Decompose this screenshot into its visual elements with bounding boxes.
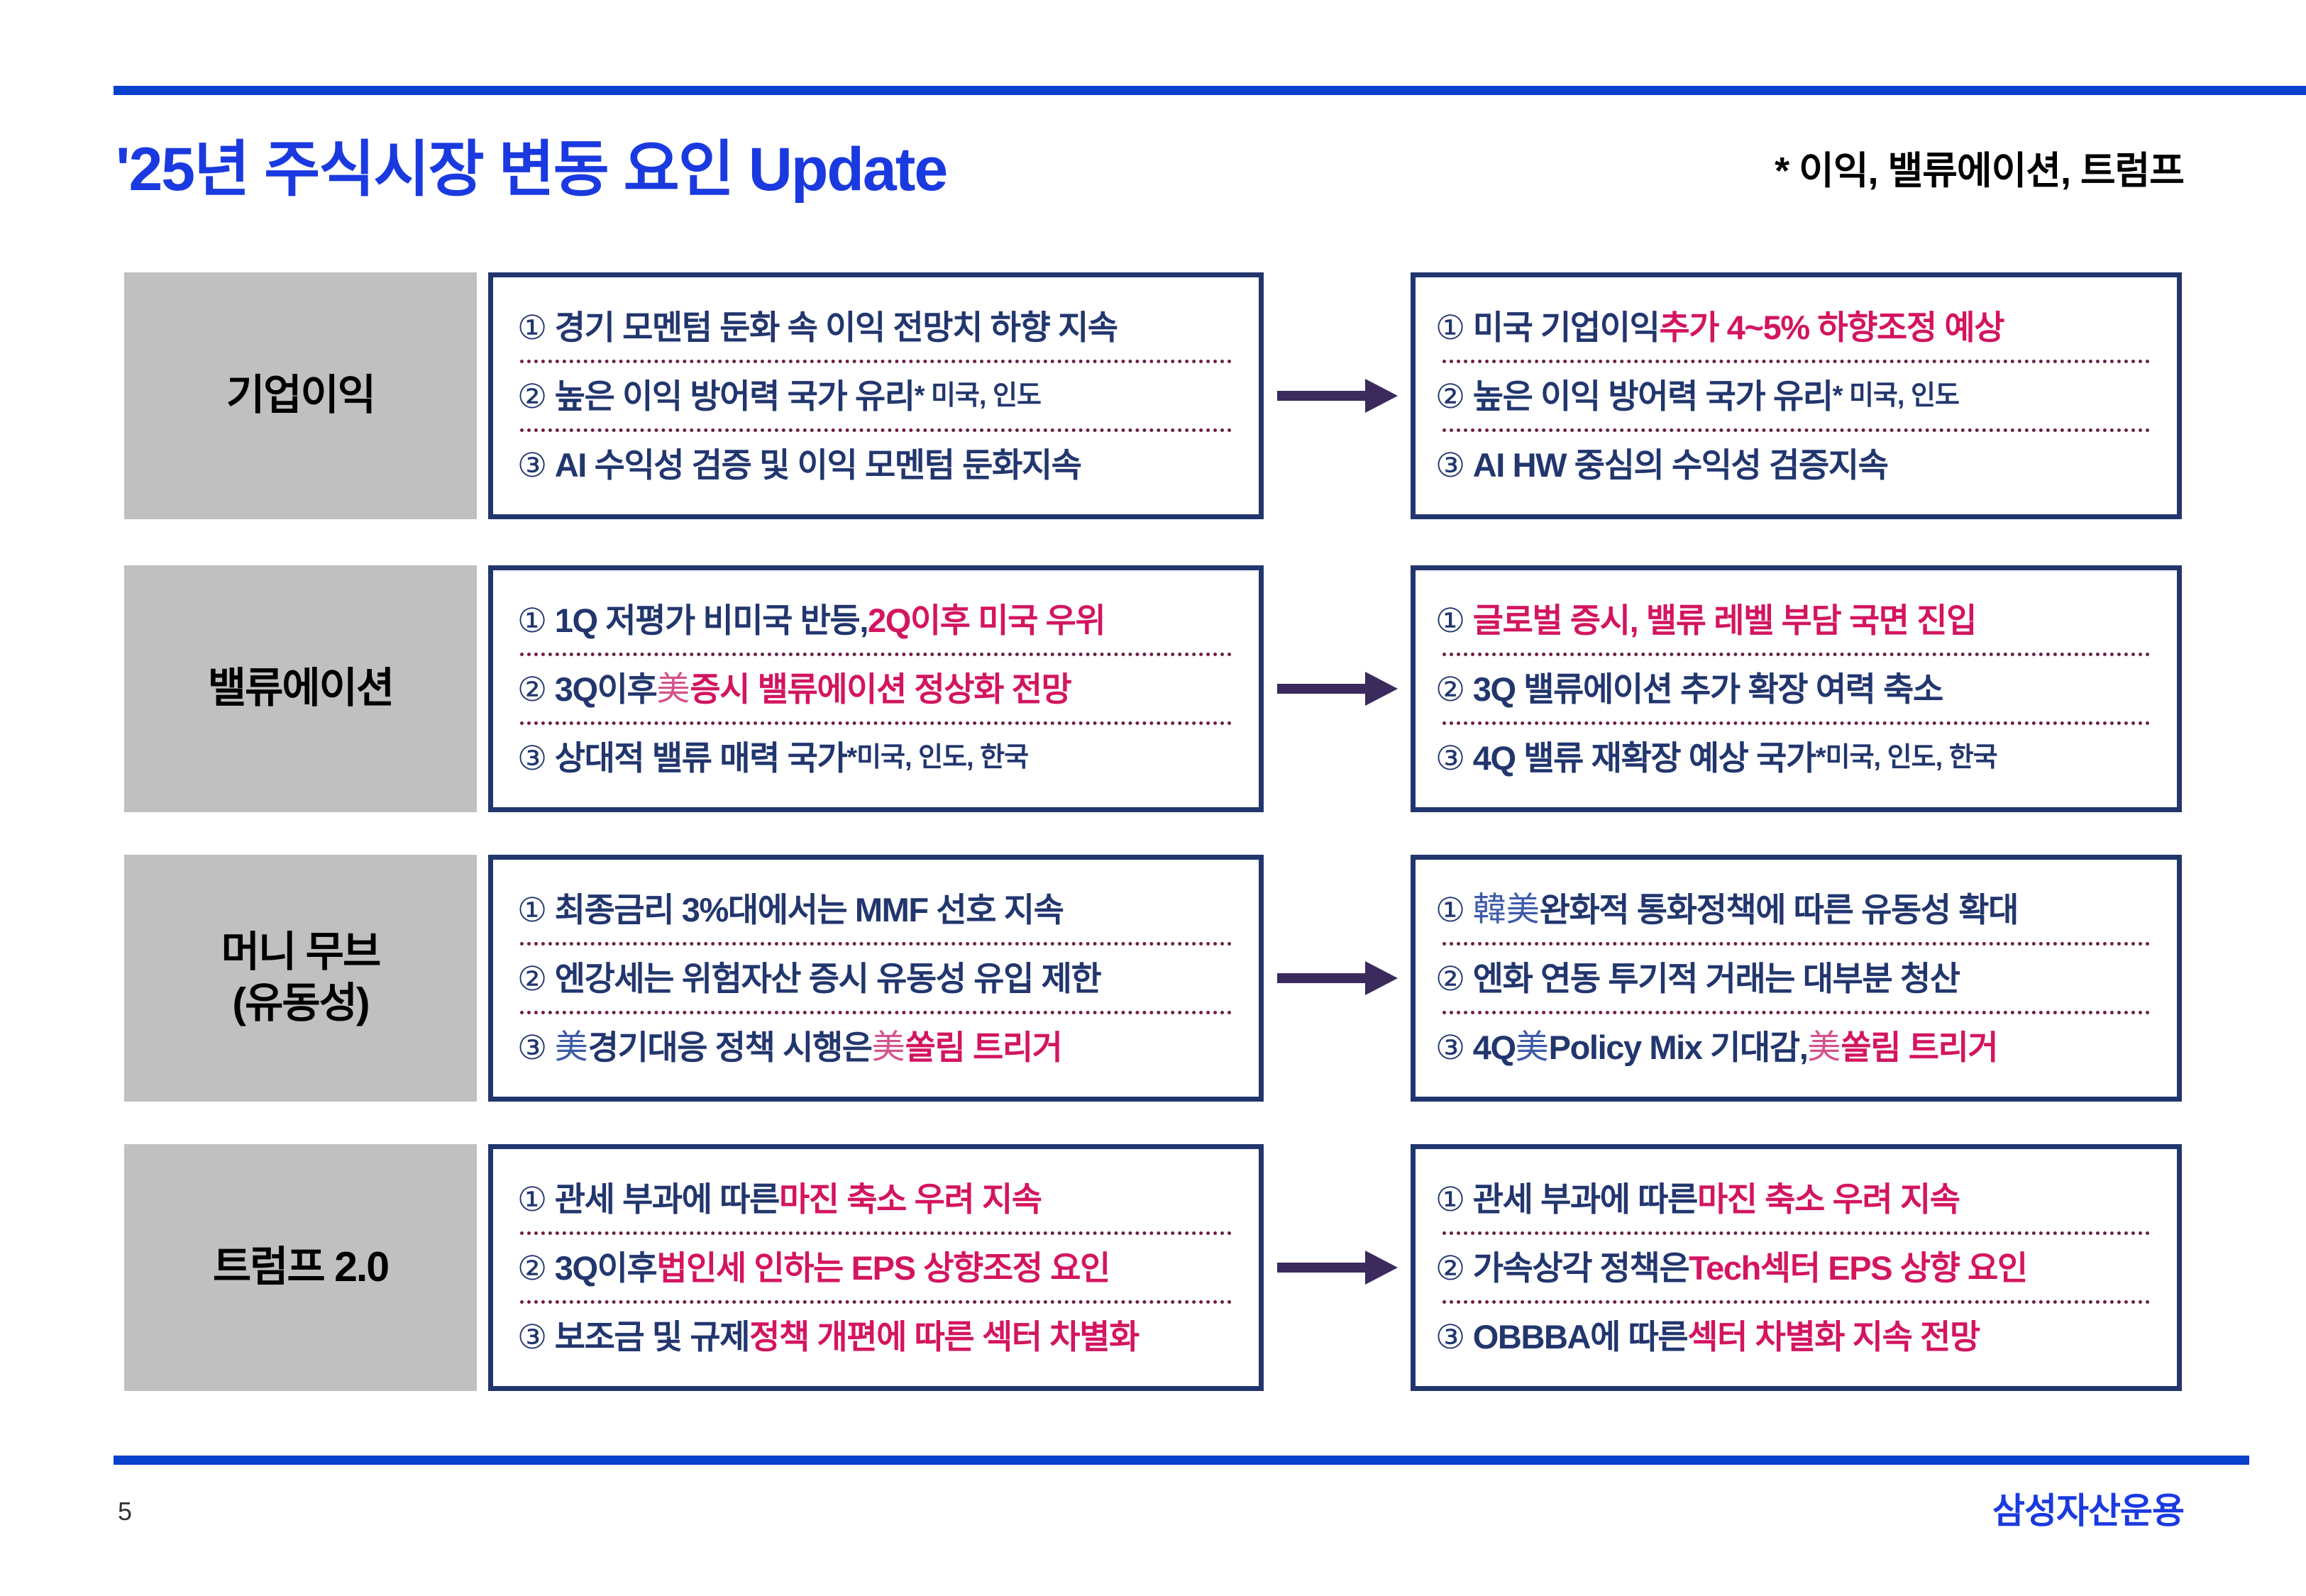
item-text-run: 법인세 인하는 EPS 상향조정 요인 [656,1251,1110,1285]
factor-item: ②높은 이익 방어력 국가 유리 * 미국, 인도 [1416,363,2177,428]
panel-updated-view: ①글로벌 증시, 밸류 레벨 부담 국면 진입②3Q 밸류에이션 추가 확장 여… [1411,565,2182,812]
arrow-head [1365,961,1398,995]
category-label: 기업이익 [226,370,375,421]
category-label: 머니 무브(유동성) [221,927,380,1029]
item-text-run: 3Q이후 [555,672,657,706]
item-text-run: 경기 모멘텀 둔화 속 이익 전망치 하향 지속 [555,311,1118,344]
item-text-run: 美 [555,1031,588,1064]
item-text-run: 엔화 연동 투기적 거래는 대부분 청산 [1473,962,1960,995]
item-number: ③ [517,741,546,775]
item-text-run: 섹터 차별화 지속 전망 [1687,1320,1980,1353]
item-text-run: 美 [1516,1031,1549,1064]
item-text-run: 보조금 및 규제 [555,1320,749,1353]
item-number: ② [1435,962,1464,995]
item-text-run: 엔강세는 위험자산 증시 유동성 유입 제한 [555,962,1101,995]
page-subtitle: * 이익, 밸류에이션, 트럼프 [1775,139,2184,195]
item-number: ① [517,1182,546,1216]
factor-item: ③상대적 밸류 매력 국가 *미국, 인도, 한국 [493,725,1259,790]
item-text-run: 3Q이후 [555,1251,657,1285]
arrow-shaft [1277,973,1371,983]
item-number: ① [1435,893,1464,926]
item-text-run: 쏠림 트리거 [1841,1031,1997,1064]
item-number: ② [1435,379,1464,413]
item-number: ③ [1435,1320,1464,1353]
footer-rule [114,1456,2249,1465]
item-number: ③ [1435,448,1464,482]
item-text-run: 4Q 밸류 재확장 예상 국가 [1473,741,1816,775]
item-text-run: 마진 축소 우려 지속 [779,1182,1042,1216]
factor-row: 머니 무브(유동성)①최종금리 3%대에서는 MMF 선호 지속②엔강세는 위험… [0,855,2306,1102]
page-number: 5 [118,1497,132,1526]
item-text-run: 美 [872,1031,905,1064]
arrow-shaft [1277,684,1371,694]
category-cell: 밸류에이션 [124,565,477,812]
panel-updated-view: ①韓美 완화적 통화정책에 따른 유동성 확대②엔화 연동 투기적 거래는 대부… [1411,855,2182,1102]
item-text-run: 가속상각 정책은 [1473,1251,1689,1285]
item-text-run: 관세 부과에 따른 [1473,1182,1697,1216]
category-cell: 트럼프 2.0 [124,1144,477,1391]
item-text-run: 4Q [1473,1031,1516,1064]
item-text-run: Tech섹터 EPS 상향 요인 [1689,1251,2026,1285]
factor-item: ③4Q 밸류 재확장 예상 국가 *미국, 인도, 한국 [1416,725,2177,790]
item-text-run: 완화적 통화정책에 따른 유동성 확대 [1540,893,2018,926]
item-text-run: 쏠림 트리거 [905,1031,1062,1064]
category-label: 트럼프 2.0 [213,1242,388,1293]
factor-item: ①경기 모멘텀 둔화 속 이익 전망치 하향 지속 [493,294,1259,360]
item-text-run: 정책 개편에 따른 섹터 차별화 [749,1320,1139,1353]
item-text-run: 높은 이익 방어력 국가 유리 [1473,379,1833,413]
category-cell: 머니 무브(유동성) [124,855,477,1102]
item-text-run: 3Q 밸류에이션 추가 확장 여력 축소 [1473,672,1943,706]
factor-item: ②3Q이후 美 증시 밸류에이션 정상화 전망 [493,656,1259,721]
item-number: ① [517,893,546,926]
factor-item: ①韓美 완화적 통화정책에 따른 유동성 확대 [1416,877,2177,942]
company-logo: 삼성자산운용 [1992,1483,2184,1534]
item-text-run: * 미국, 인도 [1833,382,1959,409]
category-cell: 기업이익 [124,272,477,519]
item-text-run: 최종금리 3%대에서는 MMF 선호 지속 [555,893,1064,926]
panel-updated-view: ①관세 부과에 따른 마진 축소 우려 지속②가속상각 정책은 Tech섹터 E… [1411,1144,2182,1391]
item-number: ③ [517,448,546,482]
item-number: ③ [1435,1031,1464,1064]
arrow-head [1365,1251,1398,1285]
item-text-run: 상대적 밸류 매력 국가 [555,741,847,775]
item-text-run: 美 [1807,1031,1841,1064]
factor-row: 트럼프 2.0①관세 부과에 따른 마진 축소 우려 지속②3Q이후 법인세 인… [0,1144,2306,1391]
item-text-run: Policy Mix 기대감, [1549,1031,1808,1064]
item-text-run: 2Q이후 미국 우위 [868,604,1105,637]
item-number: ③ [517,1320,546,1353]
arrow-head [1365,672,1398,706]
factor-item: ②엔강세는 위험자산 증시 유동성 유입 제한 [493,946,1259,1011]
factor-item: ③美 경기대응 정책 시행은 美 쏠림 트리거 [493,1014,1259,1080]
factor-item: ①관세 부과에 따른 마진 축소 우려 지속 [1416,1166,2177,1231]
factor-row: 밸류에이션①1Q 저평가 비미국 반등, 2Q이후 미국 우위②3Q이후 美 증… [0,565,2306,812]
panel-previous-view: ①1Q 저평가 비미국 반등, 2Q이후 미국 우위②3Q이후 美 증시 밸류에… [488,565,1264,812]
item-number: ② [517,379,546,413]
item-number: ① [1435,604,1464,637]
item-text-run: AI 수익성 검증 및 이익 모멘텀 둔화지속 [555,448,1081,482]
slide: '25년 주식시장 변동 요인 Update * 이익, 밸류에이션, 트럼프 … [0,0,2306,1596]
item-text-run: 경기대응 정책 시행은 [588,1031,872,1064]
header-rule [114,86,2306,95]
factor-item: ③AI HW 중심의 수익성 검증지속 [1416,432,2177,497]
item-text-run: * 미국, 인도 [915,382,1041,409]
arrow-right-icon [1277,272,1398,519]
item-text-run: 추가 4~5% 하향조정 예상 [1659,311,2004,344]
factor-item: ③보조금 및 규제정책 개편에 따른 섹터 차별화 [493,1304,1259,1369]
item-text-run: 1Q 저평가 비미국 반등, [555,604,868,637]
item-number: ① [1435,311,1464,344]
item-text-run: 미국 기업이익 [1473,311,1660,344]
panel-updated-view: ①미국 기업이익 추가 4~5% 하향조정 예상②높은 이익 방어력 국가 유리… [1411,272,2182,519]
panel-previous-view: ①경기 모멘텀 둔화 속 이익 전망치 하향 지속②높은 이익 방어력 국가 유… [488,272,1264,519]
factor-item: ①1Q 저평가 비미국 반등, 2Q이후 미국 우위 [493,587,1259,653]
factor-item: ②높은 이익 방어력 국가 유리 * 미국, 인도 [493,363,1259,428]
item-number: ① [517,311,546,344]
item-text-run: 마진 축소 우려 지속 [1697,1182,1960,1216]
item-text-run: OBBBA에 따른 [1473,1320,1688,1353]
factor-row: 기업이익①경기 모멘텀 둔화 속 이익 전망치 하향 지속②높은 이익 방어력 … [0,272,2306,519]
item-text-run: *미국, 인도, 한국 [1816,744,1997,771]
factor-item: ③AI 수익성 검증 및 이익 모멘텀 둔화지속 [493,432,1259,497]
item-text-run: 관세 부과에 따른 [555,1182,779,1216]
category-label: 밸류에이션 [208,663,393,714]
item-number: ① [517,604,546,637]
item-number: ② [1435,672,1464,706]
item-text-run: 韓美 [1473,893,1540,926]
factor-item: ①글로벌 증시, 밸류 레벨 부담 국면 진입 [1416,587,2177,653]
factor-item: ①미국 기업이익 추가 4~5% 하향조정 예상 [1416,294,2177,360]
arrow-head [1365,379,1398,413]
arrow-right-icon [1277,565,1398,812]
panel-previous-view: ①관세 부과에 따른 마진 축소 우려 지속②3Q이후 법인세 인하는 EPS … [488,1144,1264,1391]
item-number: ② [517,672,546,706]
arrow-shaft [1277,1263,1371,1273]
item-text-run: 美 [656,672,690,706]
arrow-shaft [1277,391,1371,401]
item-text-run: AI HW 중심의 수익성 검증지속 [1473,448,1888,482]
factor-item: ②가속상각 정책은 Tech섹터 EPS 상향 요인 [1416,1235,2177,1300]
item-number: ② [517,1251,546,1285]
arrow-right-icon [1277,1144,1398,1391]
item-text-run: 높은 이익 방어력 국가 유리 [555,379,915,413]
factor-item: ②3Q 밸류에이션 추가 확장 여력 축소 [1416,656,2177,721]
factor-item: ①최종금리 3%대에서는 MMF 선호 지속 [493,877,1259,942]
item-text-run: 증시 밸류에이션 정상화 전망 [690,672,1071,706]
item-text-run: *미국, 인도, 한국 [846,744,1028,771]
factor-item: ③4Q 美 Policy Mix 기대감, 美 쏠림 트리거 [1416,1014,2177,1080]
factor-item: ①관세 부과에 따른 마진 축소 우려 지속 [493,1166,1259,1231]
factor-item: ③OBBBA에 따른 섹터 차별화 지속 전망 [1416,1304,2177,1369]
arrow-right-icon [1277,855,1398,1102]
item-number: ② [1435,1251,1464,1285]
item-number: ③ [517,1031,546,1064]
item-number: ② [517,962,546,995]
page-title: '25년 주식시장 변동 요인 Update [116,119,947,208]
factor-item: ②3Q이후 법인세 인하는 EPS 상향조정 요인 [493,1235,1259,1300]
item-number: ① [1435,1182,1464,1216]
item-text-run: 글로벌 증시, 밸류 레벨 부담 국면 진입 [1473,604,1976,637]
item-number: ③ [1435,741,1464,775]
panel-previous-view: ①최종금리 3%대에서는 MMF 선호 지속②엔강세는 위험자산 증시 유동성 … [488,855,1264,1102]
factor-item: ②엔화 연동 투기적 거래는 대부분 청산 [1416,946,2177,1011]
